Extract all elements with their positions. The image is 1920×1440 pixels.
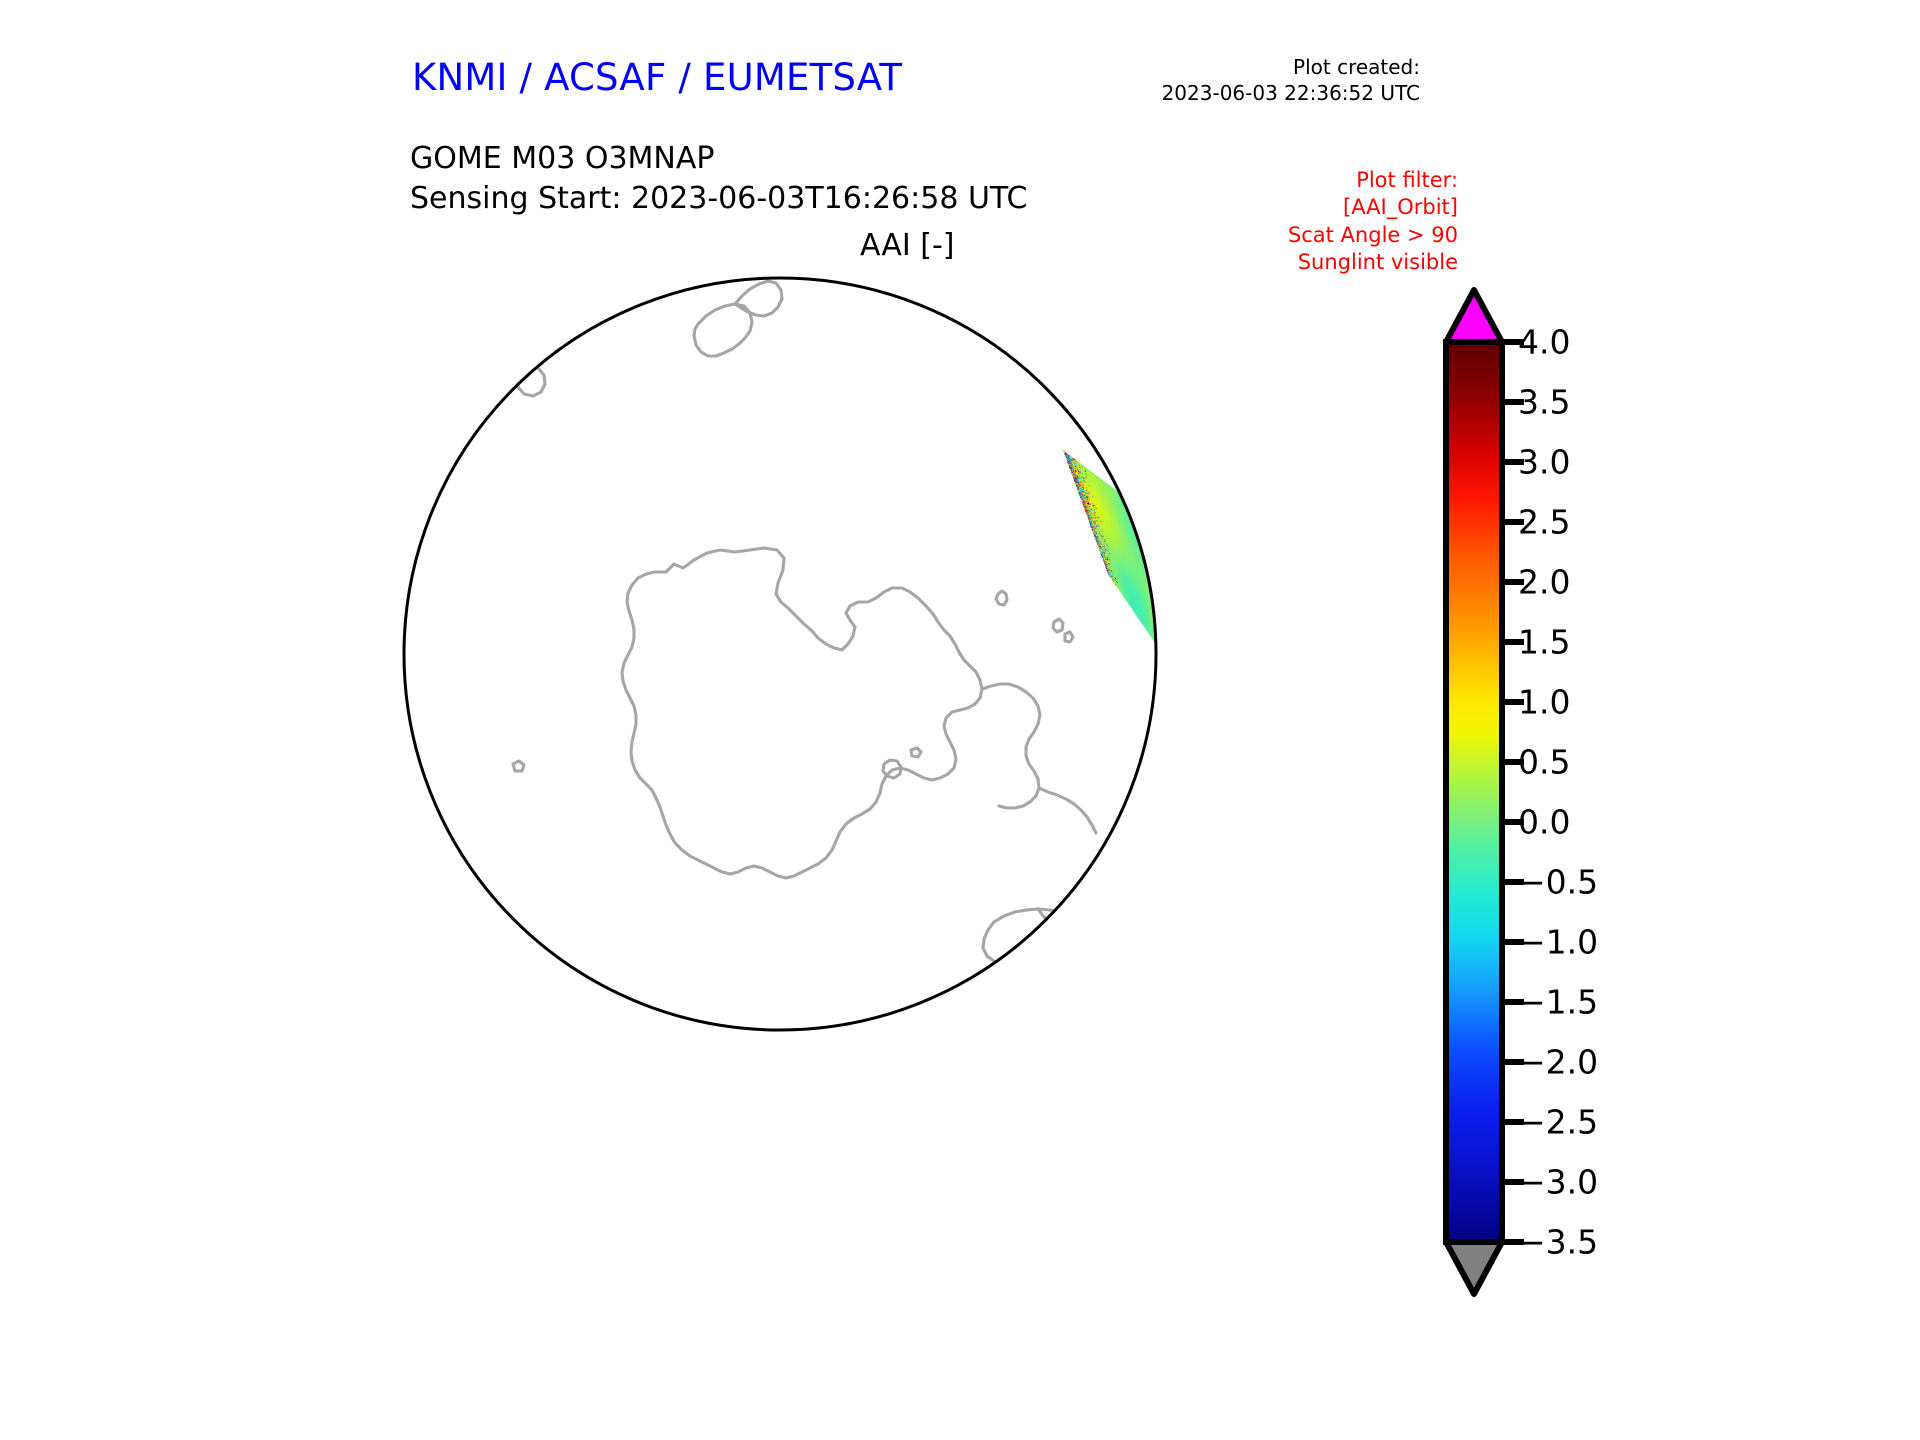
colorbar-tick-labels: 4.03.53.02.52.01.51.00.50.0−0.5−1.0−1.5−… <box>1518 282 1668 1302</box>
colorbar-tick-label: −0.5 <box>1518 866 1598 899</box>
plot-created-timestamp: 2023-06-03 22:36:52 UTC <box>1162 81 1420 107</box>
colorbar-tick-label: 2.5 <box>1518 506 1570 539</box>
colorbar-tick-label: −2.5 <box>1518 1106 1598 1139</box>
colorbar-tick-label: 1.5 <box>1518 626 1570 659</box>
plot-filter-line-3: Scat Angle > 90 <box>1288 222 1458 249</box>
map-contents <box>398 272 1162 1036</box>
colorbar-tick-label: −1.0 <box>1518 926 1598 959</box>
polar-map <box>398 272 1162 1036</box>
map-panel <box>398 272 1162 1036</box>
colorbar-tick-label: −2.0 <box>1518 1046 1598 1079</box>
coastline-falkland-islands <box>1018 969 1032 985</box>
colorbar-tick-label: −3.5 <box>1518 1226 1598 1259</box>
colorbar-tick-label: 3.0 <box>1518 446 1570 479</box>
dataset-name: GOME M03 O3MNAP <box>410 139 1027 179</box>
colorbar-tick-label: 0.0 <box>1518 806 1570 839</box>
colorbar-gradient-bar <box>1446 342 1502 1242</box>
coastline-falkland-islet <box>1025 986 1033 995</box>
plot-filter-line-2: [AAI_Orbit] <box>1288 194 1458 221</box>
coastline-tierra-del-fuego <box>1098 924 1133 951</box>
variable-title: AAI [-] <box>860 228 955 263</box>
colorbar-tick-label: −1.5 <box>1518 986 1598 1019</box>
plot-page: KNMI / ACSAF / EUMETSAT Plot created: 20… <box>0 0 1920 1440</box>
institution-title: KNMI / ACSAF / EUMETSAT <box>412 56 902 99</box>
coastline-australia-sliver <box>400 371 444 385</box>
dataset-title-block: GOME M03 O3MNAP Sensing Start: 2023-06-0… <box>410 139 1027 218</box>
colorbar-panel: 4.03.53.02.52.01.51.00.50.0−0.5−1.0−1.5−… <box>1432 282 1672 1302</box>
colorbar-tick-label: 3.5 <box>1518 386 1570 419</box>
plot-created-label: Plot created: <box>1162 55 1420 81</box>
plot-filter-line-4: Sunglint visible <box>1288 249 1458 276</box>
colorbar-tick-label: 0.5 <box>1518 746 1570 779</box>
colorbar-under-range-arrow <box>1446 1242 1502 1294</box>
sensing-start: Sensing Start: 2023-06-03T16:26:58 UTC <box>410 179 1027 219</box>
colorbar-tick-label: 1.0 <box>1518 686 1570 719</box>
plot-filter-block: Plot filter: [AAI_Orbit] Scat Angle > 90… <box>1288 167 1458 276</box>
map-background <box>398 272 1162 1036</box>
colorbar-tick-label: 4.0 <box>1518 326 1570 359</box>
plot-filter-line-1: Plot filter: <box>1288 167 1458 194</box>
colorbar-tick-label: 2.0 <box>1518 566 1570 599</box>
colorbar-tick-label: −3.0 <box>1518 1166 1598 1199</box>
plot-created-block: Plot created: 2023-06-03 22:36:52 UTC <box>1162 55 1420 106</box>
colorbar-over-range-arrow <box>1446 290 1502 342</box>
